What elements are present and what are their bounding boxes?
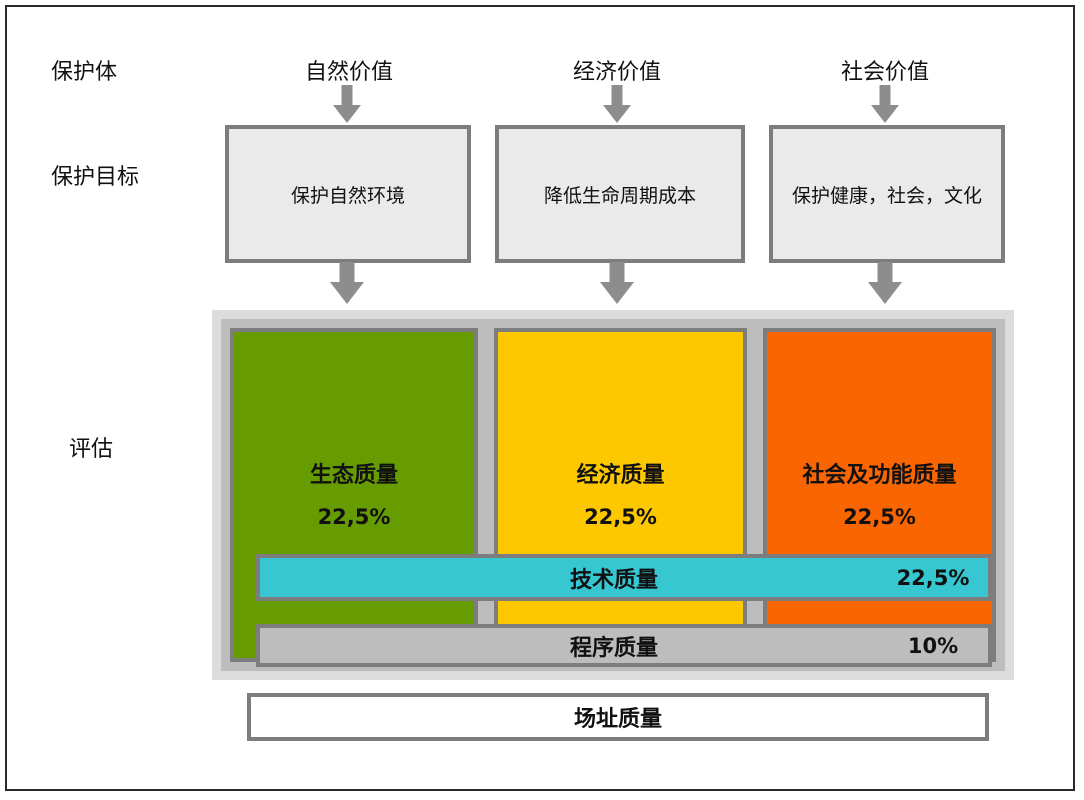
- arrow-down-icon-goal-economic: [594, 262, 640, 304]
- arrow-stem: [342, 85, 353, 107]
- arrow-stem: [878, 262, 893, 284]
- arrow-down-icon-social: [865, 85, 905, 123]
- site-quality-box: 场址质量: [247, 693, 989, 741]
- assessment-frame: 生态质量 22,5% 经济质量 22,5% 社会及功能质量 22,5% 技术质量…: [212, 310, 1014, 680]
- bar-percent: 22,5%: [878, 566, 988, 590]
- value-caption-natural: 自然价值: [229, 54, 469, 86]
- pillar-percent: 22,5%: [498, 505, 743, 529]
- pillar-title: 生态质量: [234, 457, 474, 489]
- arrow-head: [333, 105, 361, 123]
- arrow-head: [600, 282, 634, 304]
- row-label-protection-body: 保护体: [51, 54, 117, 86]
- goal-box-economic: 降低生命周期成本: [495, 125, 745, 263]
- arrow-head: [871, 105, 899, 123]
- diagram-canvas: 保护体 保护目标 评估 自然价值 经济价值 社会价值 保护自然环境 降低生命周期…: [0, 0, 1084, 800]
- page-border: 保护体 保护目标 评估 自然价值 经济价值 社会价值 保护自然环境 降低生命周期…: [5, 5, 1075, 791]
- goal-box-label: 保护健康，社会，文化: [792, 181, 982, 208]
- arrow-head: [330, 282, 364, 304]
- arrow-down-icon-goal-social: [862, 262, 908, 304]
- arrow-stem: [612, 85, 623, 107]
- row-label-assessment: 评估: [69, 431, 113, 463]
- pillar-ecological-quality: 生态质量 22,5%: [230, 328, 478, 662]
- pillar-percent: 22,5%: [767, 505, 992, 529]
- pillar-title: 经济质量: [498, 457, 743, 489]
- bar-title: 技术质量: [260, 562, 878, 594]
- value-caption-economic: 经济价值: [497, 54, 737, 86]
- arrow-head: [868, 282, 902, 304]
- bar-technical-quality: 技术质量 22,5%: [256, 554, 992, 601]
- goal-box-label: 保护自然环境: [291, 181, 405, 208]
- bar-title: 程序质量: [260, 630, 878, 662]
- site-quality-label: 场址质量: [574, 701, 662, 733]
- bar-percent: 10%: [878, 634, 988, 658]
- goal-box-natural: 保护自然环境: [225, 125, 471, 263]
- arrow-down-icon-natural: [327, 85, 367, 123]
- pillar-title: 社会及功能质量: [767, 457, 992, 489]
- arrow-head: [603, 105, 631, 123]
- arrow-stem: [610, 262, 625, 284]
- arrow-stem: [340, 262, 355, 284]
- pillar-economic-quality: 经济质量 22,5%: [494, 328, 747, 662]
- pillar-social-functional-quality: 社会及功能质量 22,5%: [763, 328, 996, 662]
- bar-procedural-quality: 程序质量 10%: [256, 624, 992, 667]
- value-caption-social: 社会价值: [765, 54, 1005, 86]
- assessment-inner-frame: 生态质量 22,5% 经济质量 22,5% 社会及功能质量 22,5% 技术质量…: [221, 319, 1005, 671]
- goal-box-label: 降低生命周期成本: [544, 181, 696, 208]
- arrow-down-icon-goal-natural: [324, 262, 370, 304]
- row-label-protection-goal: 保护目标: [51, 159, 139, 191]
- arrow-stem: [880, 85, 891, 107]
- arrow-down-icon-economic: [597, 85, 637, 123]
- pillar-percent: 22,5%: [234, 505, 474, 529]
- goal-box-social: 保护健康，社会，文化: [769, 125, 1005, 263]
